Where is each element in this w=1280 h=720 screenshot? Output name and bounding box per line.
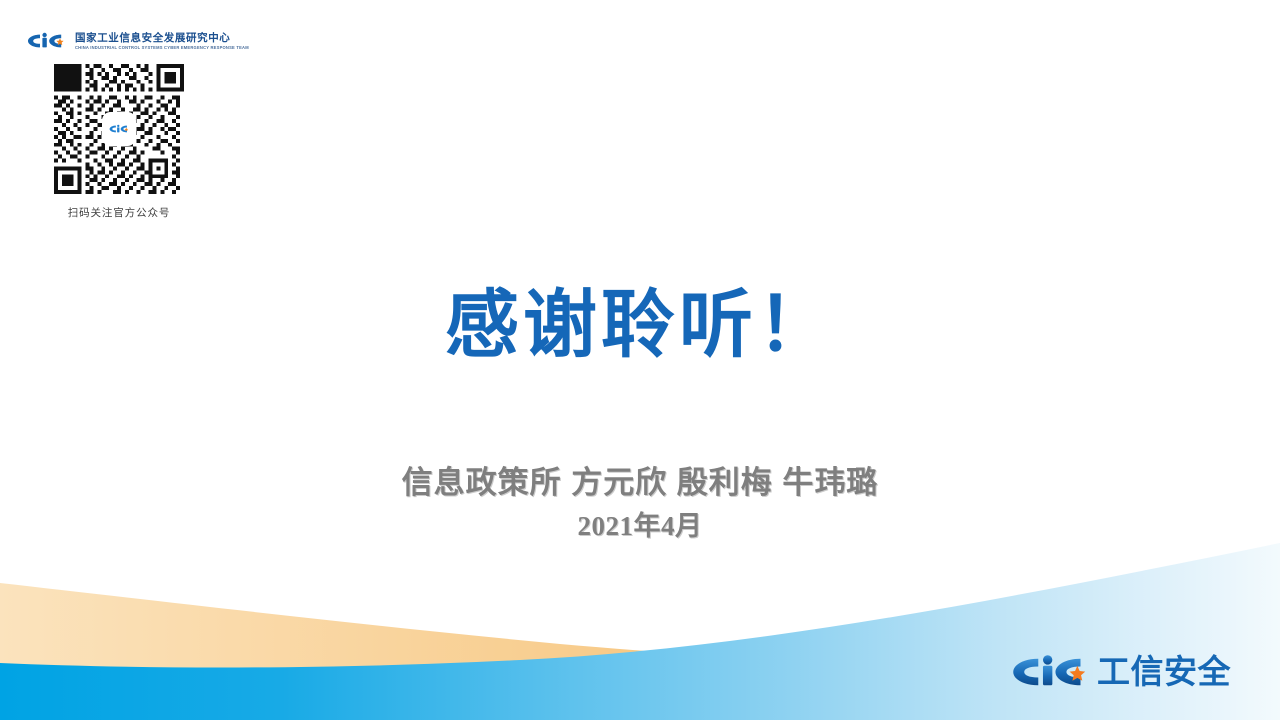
cic-logo-icon: [1007, 652, 1093, 692]
cic-logo-icon: [108, 124, 131, 135]
slide-canvas: 国家工业信息安全发展研究中心 CHINA INDUSTRIAL CONTROL …: [0, 0, 1280, 720]
qr-center-logo: [104, 114, 135, 145]
header-logo-texts: 国家工业信息安全发展研究中心 CHINA INDUSTRIAL CONTROL …: [75, 32, 249, 51]
footer-logo: 工信安全: [1007, 652, 1231, 692]
blue-wave: [0, 543, 1280, 720]
header-logo: 国家工业信息安全发展研究中心 CHINA INDUSTRIAL CONTROL …: [24, 31, 249, 51]
qr-frame: [54, 64, 184, 194]
org-name-en: CHINA INDUSTRIAL CONTROL SYSTEMS CYBER E…: [75, 45, 249, 51]
date-year-unit: 年: [634, 511, 662, 541]
org-name-cn: 国家工业信息安全发展研究中心: [75, 32, 249, 44]
qr-block: 扫码关注官方公众号: [53, 64, 185, 220]
authors-line: 信息政策所 方元欣 殷利梅 牛玮璐: [0, 462, 1280, 504]
qr-caption: 扫码关注官方公众号: [68, 205, 171, 220]
page-title: 感谢聆听！: [0, 282, 1280, 368]
date-month: 4: [661, 511, 675, 541]
date-line: 2021年4月: [0, 508, 1280, 544]
subtitle-block: 信息政策所 方元欣 殷利梅 牛玮璐 2021年4月: [0, 462, 1280, 544]
date-month-unit: 月: [675, 511, 703, 541]
footer-brand-cn: 工信安全: [1097, 654, 1231, 690]
date-year: 2021: [578, 511, 634, 541]
cic-logo-icon: [24, 31, 68, 51]
